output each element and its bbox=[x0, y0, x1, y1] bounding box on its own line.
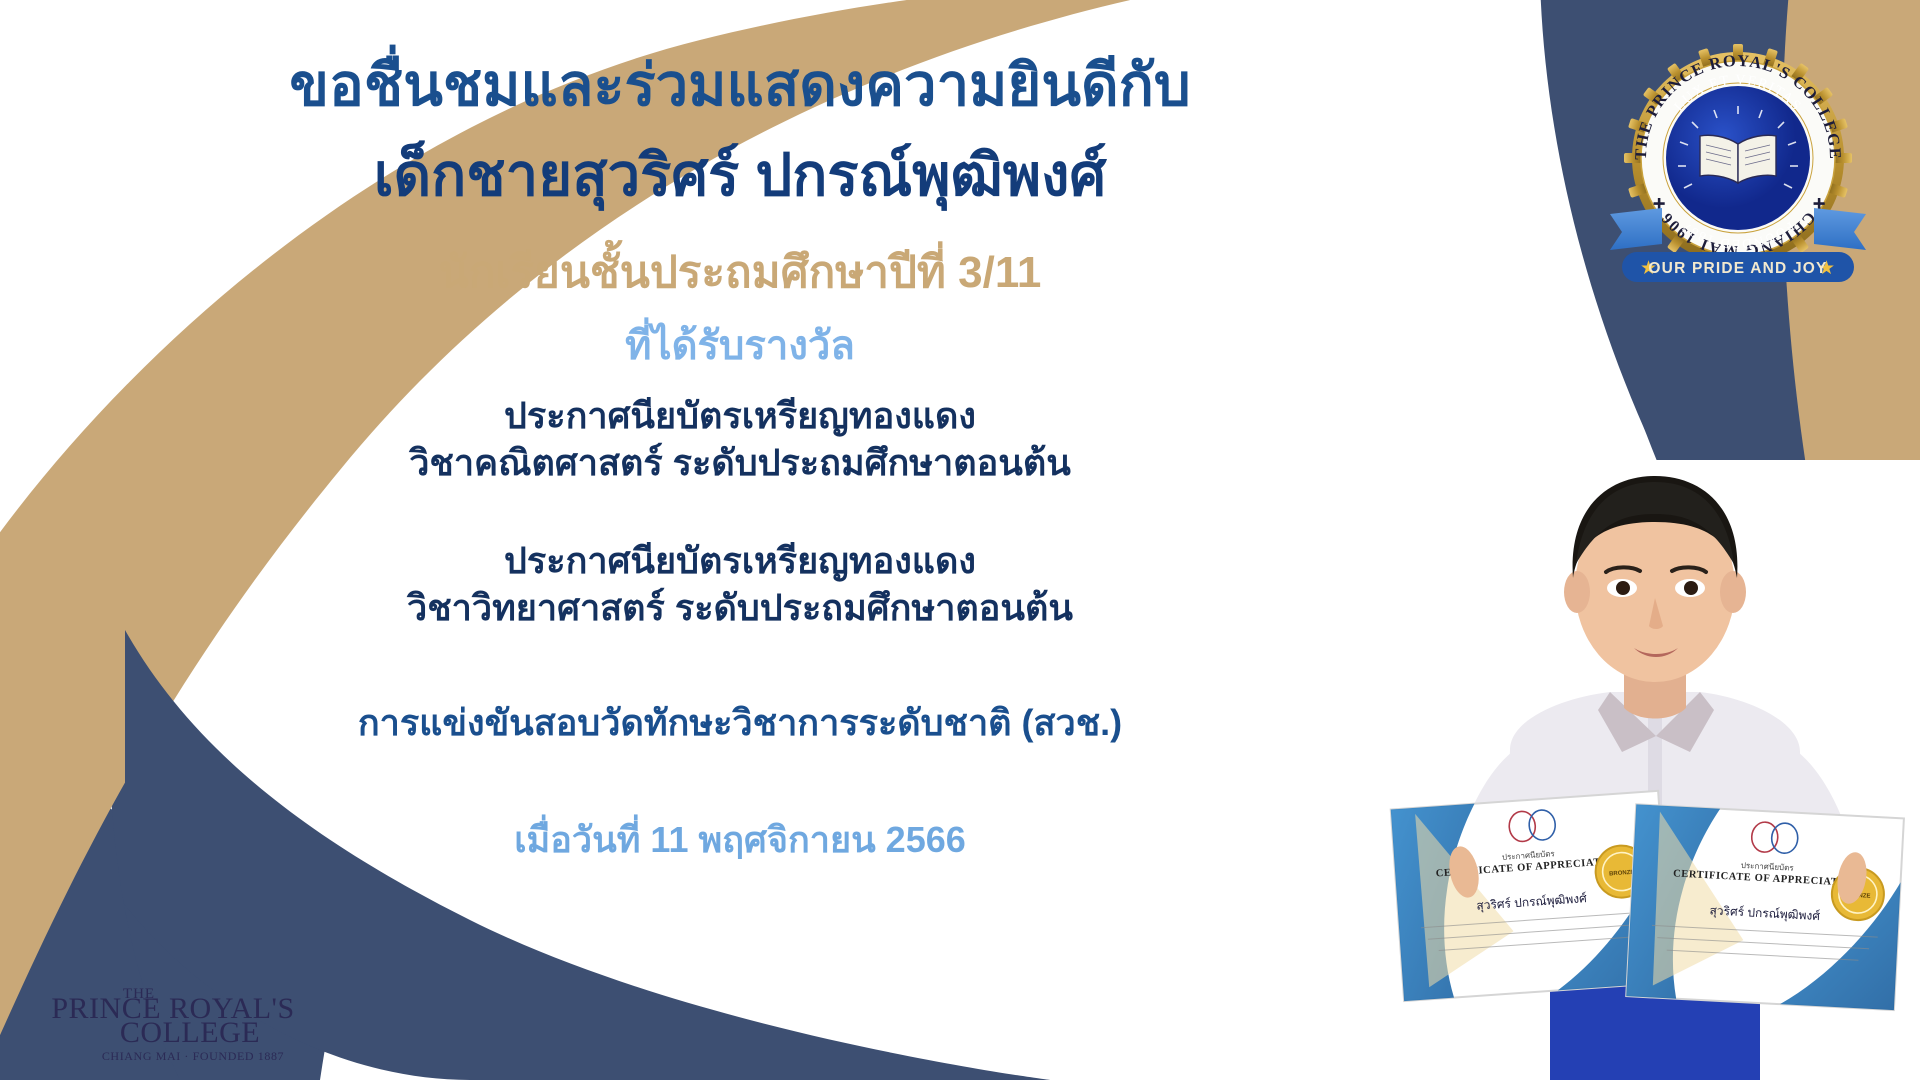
award-item-1: ประกาศนียบัตรเหรียญทองแดง วิชาคณิตศาสตร์… bbox=[409, 393, 1071, 487]
wordmark-subtitle: CHIANG MAI · FOUNDED 1887 bbox=[68, 1050, 318, 1062]
event-date: เมื่อวันที่ 11 พฤศจิกายน 2566 bbox=[514, 811, 966, 868]
award-1-subject: วิชาคณิตศาสตร์ ระดับประถมศึกษาตอนต้น bbox=[409, 440, 1071, 487]
school-wordmark: THE PRINCE ROYAL'S COLLEGE CHIANG MAI · … bbox=[28, 987, 318, 1062]
student-photo: ประกาศนียบัตร CERTIFICATE OF APPRECIATIO… bbox=[1360, 460, 1920, 1080]
school-crest: THE PRINCE ROYAL'S COLLEGE CHIANG MAI 19… bbox=[1604, 18, 1872, 296]
crest-banner-text: OUR PRIDE AND JOY bbox=[1648, 260, 1827, 277]
congratulation-poster: THE PRINCE ROYAL'S COLLEGE CHIANG MAI 19… bbox=[0, 0, 1920, 1080]
student-ear-right bbox=[1720, 571, 1746, 613]
headline-line-1: ขอชื่นชมและร่วมแสดงความยินดีกับ bbox=[289, 52, 1190, 120]
crest-pride-banner: ★ ★ OUR PRIDE AND JOY bbox=[1622, 252, 1854, 282]
poster-text-content: ขอชื่นชมและร่วมแสดงความยินดีกับ เด็กชายส… bbox=[150, 0, 1330, 1080]
certificate-right: ประกาศนียบัตร CERTIFICATE OF APPRECIATIO… bbox=[1626, 804, 1904, 1010]
competition-name: การแข่งขันสอบวัดทักษะวิชาการระดับชาติ (ส… bbox=[358, 694, 1122, 751]
student-ear-left bbox=[1564, 571, 1590, 613]
headline-line-2-student-name: เด็กชายสุวริศร์ ปกรณ์พุฒิพงศ์ bbox=[374, 142, 1107, 210]
award-1-title: ประกาศนียบัตรเหรียญทองแดง bbox=[409, 393, 1071, 440]
award-2-title: ประกาศนียบัตรเหรียญทองแดง bbox=[407, 538, 1073, 585]
student-grade-line: นักเรียนชั้นประถมศึกษาปีที่ 3/11 bbox=[439, 237, 1042, 307]
award-2-subject: วิชาวิทยาศาสตร์ ระดับประถมศึกษาตอนต้น bbox=[407, 585, 1073, 632]
award-lead-text: ที่ได้รับรางวัล bbox=[625, 313, 855, 377]
award-item-2: ประกาศนียบัตรเหรียญทองแดง วิชาวิทยาศาสตร… bbox=[407, 538, 1073, 632]
